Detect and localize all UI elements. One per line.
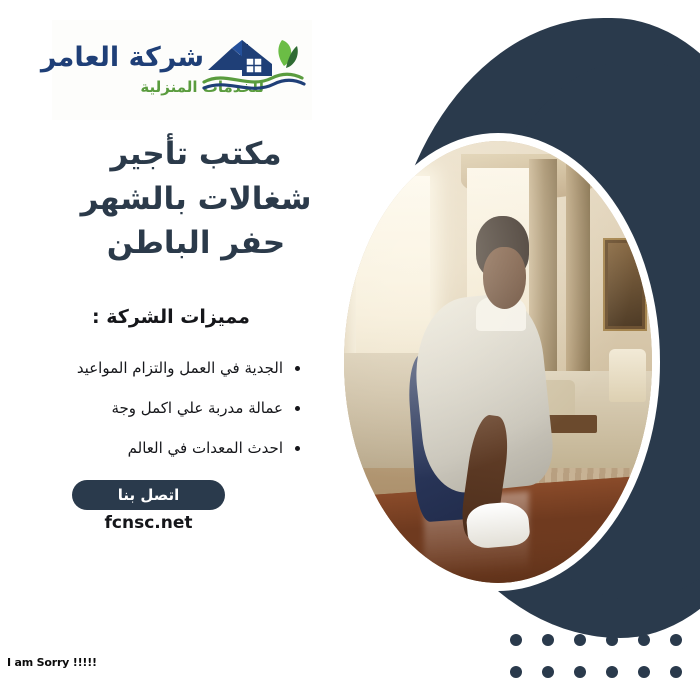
features-list: الجدية في العمل والتزام المواعيد عمالة م…	[60, 348, 300, 468]
list-item-label: عمالة مدربة علي اكمل وجة	[111, 399, 283, 417]
list-item: احدث المعدات في العالم	[60, 428, 300, 468]
contact-us-button[interactable]: اتصل بنا	[72, 480, 225, 510]
framed-picture	[603, 238, 647, 330]
bullet-icon	[295, 366, 300, 371]
maid-face	[483, 247, 526, 309]
table-lamp	[609, 349, 646, 402]
features-title: مميزات الشركة :	[56, 306, 286, 328]
housekeeper-photo	[344, 141, 652, 583]
photo-scene	[344, 141, 652, 583]
dot	[542, 634, 554, 646]
dot	[606, 634, 618, 646]
list-item-label: احدث المعدات في العالم	[128, 439, 283, 457]
dot	[510, 666, 522, 678]
poster-canvas: شركة العامر للخدمات المنزلية مكتب ت	[0, 0, 700, 700]
dot	[638, 666, 650, 678]
logo-house-leaf-icon	[202, 26, 306, 102]
dot	[574, 634, 586, 646]
logo-company-name: شركة العامر	[41, 42, 204, 73]
website-url[interactable]: fcnsc.net	[72, 513, 225, 533]
headline: مكتب تأجير شغالات بالشهر حفر الباطن	[46, 132, 346, 266]
dot	[606, 666, 618, 678]
cleaning-cloth	[465, 501, 530, 550]
list-item: عمالة مدربة علي اكمل وجة	[60, 388, 300, 428]
list-item-label: الجدية في العمل والتزام المواعيد	[77, 359, 283, 377]
headline-line-3: حفر الباطن	[46, 221, 346, 266]
decorative-dots-grid	[510, 634, 682, 678]
bullet-icon	[295, 446, 300, 451]
list-item: الجدية في العمل والتزام المواعيد	[60, 348, 300, 388]
dot	[542, 666, 554, 678]
dot	[670, 666, 682, 678]
bullet-icon	[295, 406, 300, 411]
dot	[574, 666, 586, 678]
dot	[510, 634, 522, 646]
dot	[670, 634, 682, 646]
headline-line-2: شغالات بالشهر	[46, 177, 346, 222]
watermark-text: I am Sorry !!!!!	[4, 655, 100, 670]
dot	[638, 634, 650, 646]
headline-line-1: مكتب تأجير	[46, 132, 346, 177]
company-logo: شركة العامر للخدمات المنزلية	[52, 20, 312, 120]
